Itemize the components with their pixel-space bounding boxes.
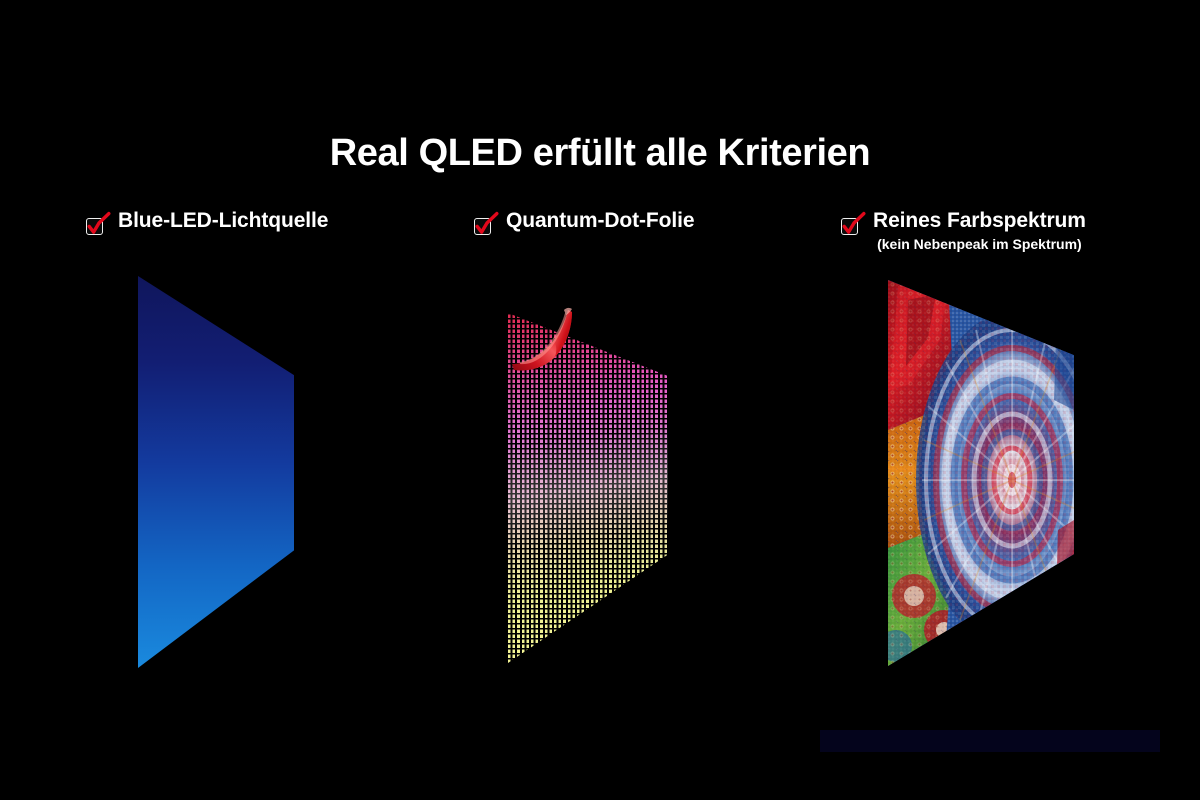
feature-subtitle-pure-spectrum: (kein Nebenpeak im Spektrum)	[873, 237, 1086, 252]
feature-text-blue-led: Blue-LED-Lichtquelle	[118, 210, 328, 232]
feature-label-pure-spectrum: Reines Farbspektrum	[873, 210, 1086, 232]
mandala-artwork	[888, 280, 1074, 666]
checkmark-icon	[474, 213, 496, 239]
feature-text-quantum-dot: Quantum-Dot-Folie	[506, 210, 694, 232]
foil-peel-icon	[506, 306, 598, 378]
checkmark-icon	[841, 213, 863, 239]
slide-canvas: Real QLED erfüllt alle Kriterien Blue-LE…	[0, 0, 1200, 800]
feature-label-blue-led: Blue-LED-Lichtquelle	[118, 210, 328, 232]
illustration-blue-led-panel	[138, 276, 294, 668]
feature-header-blue-led: Blue-LED-Lichtquelle	[86, 210, 328, 239]
feature-header-quantum-dot: Quantum-Dot-Folie	[474, 210, 694, 239]
checkmark-icon	[86, 213, 108, 239]
feature-label-quantum-dot: Quantum-Dot-Folie	[506, 210, 694, 232]
illustration-mandala-panel	[888, 280, 1074, 666]
feature-text-pure-spectrum: Reines Farbspektrum (kein Nebenpeak im S…	[873, 210, 1086, 252]
page-title: Real QLED erfüllt alle Kriterien	[0, 132, 1200, 175]
background-glow-band	[820, 730, 1160, 752]
feature-header-pure-spectrum: Reines Farbspektrum (kein Nebenpeak im S…	[841, 210, 1086, 252]
